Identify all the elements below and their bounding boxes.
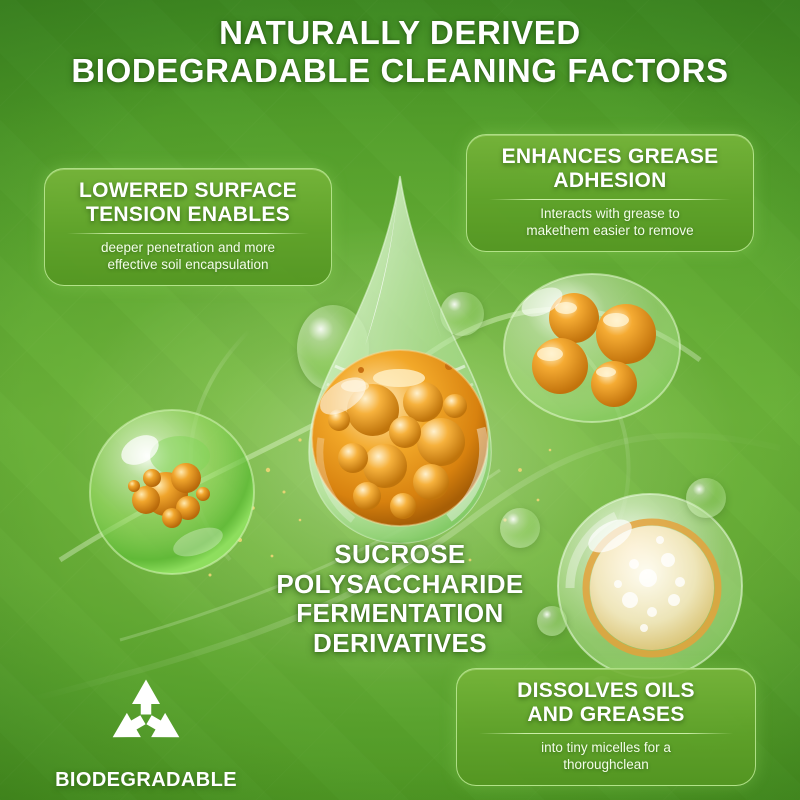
callout-lowered-surface-tension[interactable]: LOWERED SURFACE TENSION ENABLES deeper p… xyxy=(44,168,332,286)
callout-divider xyxy=(479,733,733,734)
mini-bubble-4 xyxy=(686,478,726,518)
recycle-icon xyxy=(90,676,202,760)
ingredient-line-4: DERIVATIVES xyxy=(150,629,650,659)
callout-title-line-1: ENHANCES GREASE xyxy=(479,145,741,169)
ingredient-line-3: FERMENTATION xyxy=(150,599,650,629)
heading-line-1: NATURALLY DERIVED xyxy=(0,14,800,52)
callout-body-line-2: thoroughclean xyxy=(469,757,743,774)
callout-body: Interacts with grease to makethem easier… xyxy=(479,206,741,240)
heading-line-2: BIODEGRADABLE CLEANING FACTORS xyxy=(0,52,800,90)
ingredient-line-1: SUCROSE xyxy=(150,540,650,570)
callout-dissolves-oils-and-greases[interactable]: DISSOLVES OILS AND GREASES into tiny mic… xyxy=(456,668,756,786)
poster-heading: NATURALLY DERIVED BIODEGRADABLE CLEANING… xyxy=(0,14,800,91)
ingredient-name-label: SUCROSE POLYSACCHARIDE FERMENTATION DERI… xyxy=(150,540,650,659)
callout-divider xyxy=(489,199,731,200)
callout-title-line-2: ADHESION xyxy=(479,169,741,193)
callout-title-line-1: DISSOLVES OILS xyxy=(469,679,743,703)
callout-enhances-grease-adhesion[interactable]: ENHANCES GREASE ADHESION Interacts with … xyxy=(466,134,754,252)
biodegradable-badge: BIODEGRADABLE xyxy=(46,676,246,792)
callout-divider xyxy=(67,233,309,234)
callout-title-line-2: TENSION ENABLES xyxy=(57,203,319,227)
callout-title: ENHANCES GREASE ADHESION xyxy=(479,145,741,192)
poster-canvas: NATURALLY DERIVED BIODEGRADABLE CLEANING… xyxy=(0,0,800,800)
callout-body: deeper penetration and more effective so… xyxy=(57,240,319,274)
callout-title: LOWERED SURFACE TENSION ENABLES xyxy=(57,179,319,226)
callout-title-line-2: AND GREASES xyxy=(469,703,743,727)
callout-body-line-2: effective soil encapsulation xyxy=(57,257,319,274)
ingredient-line-2: POLYSACCHARIDE xyxy=(150,570,650,600)
callout-body: into tiny micelles for a thoroughclean xyxy=(469,740,743,774)
callout-body-line-1: into tiny micelles for a xyxy=(469,740,743,757)
callout-title-line-1: LOWERED SURFACE xyxy=(57,179,319,203)
biodegradable-caption: BIODEGRADABLE xyxy=(46,769,246,792)
callout-body-line-2: makethem easier to remove xyxy=(479,223,741,240)
callout-body-line-1: deeper penetration and more xyxy=(57,240,319,257)
callout-title: DISSOLVES OILS AND GREASES xyxy=(469,679,743,726)
callout-body-line-1: Interacts with grease to xyxy=(479,206,741,223)
